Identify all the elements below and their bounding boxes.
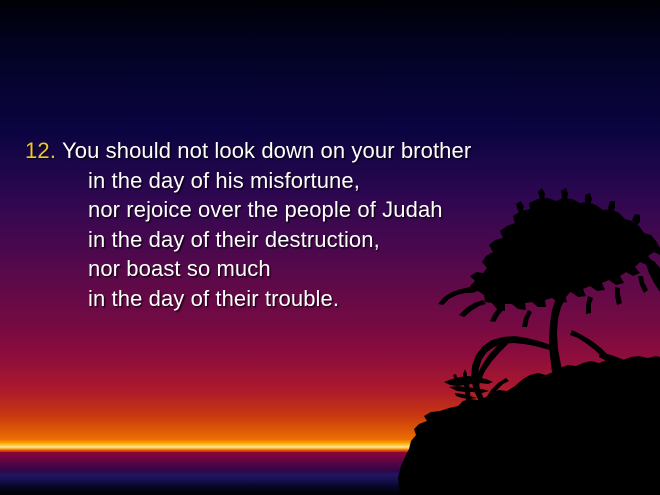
presentation-slide: 12. You should not look down on your bro… [0, 0, 660, 495]
verse-line-3: nor rejoice over the people of Judah [62, 195, 660, 225]
verse-lines: You should not look down on your brother… [62, 136, 660, 313]
verse-line-6: in the day of their trouble. [62, 284, 660, 314]
verse-line-4: in the day of their destruction, [62, 225, 660, 255]
water-reflection-sheen [0, 470, 660, 486]
verse-line-2: in the day of his misfortune, [62, 166, 660, 196]
verse-line-1: You should not look down on your brother [62, 136, 660, 166]
verse-row: 12. You should not look down on your bro… [0, 136, 660, 313]
verse-number: 12. [0, 136, 62, 166]
verse-text-block: 12. You should not look down on your bro… [0, 136, 660, 313]
verse-line-5: nor boast so much [62, 254, 660, 284]
